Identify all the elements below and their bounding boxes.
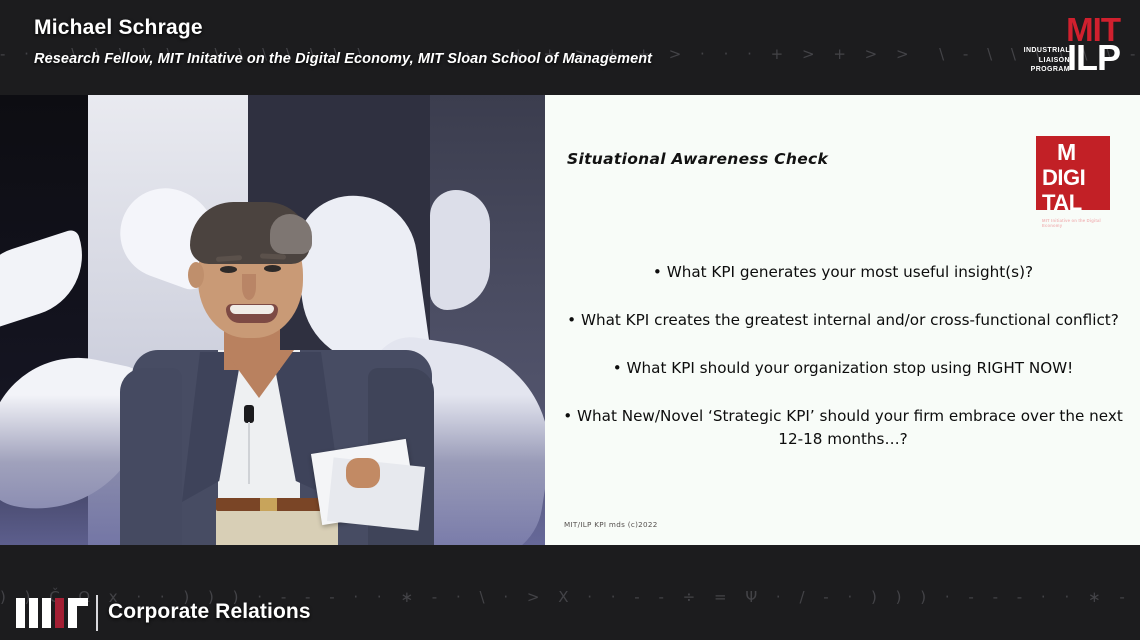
speaker-hair-highlight (270, 214, 312, 254)
speaker-arm-left (120, 368, 182, 545)
slide-pane[interactable]: Situational Awareness Check M DIGI TAL M… (545, 95, 1140, 545)
slide-credit: MIT/ILP KPI mds (c)2022 (564, 520, 658, 529)
digital-logo-tal: TAL (1042, 192, 1104, 214)
microphone-wire (248, 422, 250, 484)
mit-logo-bar (29, 598, 38, 628)
speaker-ear (188, 262, 204, 288)
speaker-hand (346, 458, 380, 488)
footer-pattern-decoration: ) ) Č Ω x · · ) ) ) · - - - · · ∗ - · \ … (0, 545, 1140, 640)
mit-logo-t-crossbar (68, 598, 88, 606)
speaker-nose (242, 274, 256, 300)
mit-ilp-logo-subtitle: INDUSTRIAL LIAISON PROGRAM (1004, 46, 1070, 75)
presenter-video-pane[interactable] (0, 95, 545, 545)
header-bar: - · · \ \ \ \ \ - \ \ \ \ \ \ \ - - · · … (0, 0, 1140, 95)
ilp-sub-line3: PROGRAM (1004, 65, 1070, 75)
speaker-figure (120, 200, 450, 545)
footer-divider (96, 595, 98, 631)
digital-logo-subtitle: MIT Initiative on the Digital Economy (1042, 218, 1104, 229)
mit-ilp-logo: MIT ILP INDUSTRIAL LIAISON PROGRAM (1004, 14, 1122, 80)
slide-bullet-list: • What KPI generates your most useful in… (563, 261, 1123, 476)
mit-logo-bar-red (55, 598, 64, 628)
mit-logo-bar (42, 598, 51, 628)
speaker-eye-right (264, 265, 281, 272)
mit-logo (16, 598, 88, 628)
mit-digital-logo: M DIGI TAL MIT Initiative on the Digital… (1036, 136, 1110, 210)
slide-bullet-item: • What KPI generates your most useful in… (563, 261, 1123, 284)
mit-ilp-logo-ilp-text: ILP (1067, 41, 1120, 75)
slide-bullet-item: • What New/Novel ‘Strategic KPI’ should … (563, 405, 1123, 451)
speaker-eye-left (220, 266, 237, 273)
presentation-viewer: - · · \ \ \ \ \ - \ \ \ \ \ \ \ - - · · … (0, 0, 1140, 640)
digital-logo-digi: DIGI (1042, 167, 1104, 189)
speaker-identity: Michael Schrage Research Fellow, MIT Ini… (34, 16, 652, 67)
ilp-sub-line2: LIAISON (1004, 56, 1070, 66)
mit-logo-bar (16, 598, 25, 628)
speaker-belt-buckle (260, 498, 277, 511)
footer-brand-label: Corporate Relations (108, 600, 311, 624)
digital-logo-m: M (1057, 141, 1104, 164)
speaker-title: Research Fellow, MIT Initative on the Di… (34, 51, 652, 67)
footer-bar: ) ) Č Ω x · · ) ) ) · - - - · · ∗ - · \ … (0, 545, 1140, 640)
slide-bullet-item: • What KPI creates the greatest internal… (563, 309, 1123, 332)
slide-bullet-item: • What KPI should your organization stop… (563, 357, 1123, 380)
slide-title: Situational Awareness Check (567, 150, 828, 168)
speaker-name: Michael Schrage (34, 16, 652, 40)
lapel-microphone-icon (244, 405, 254, 423)
ilp-sub-line1: INDUSTRIAL (1004, 46, 1070, 56)
speaker-teeth (230, 305, 274, 314)
